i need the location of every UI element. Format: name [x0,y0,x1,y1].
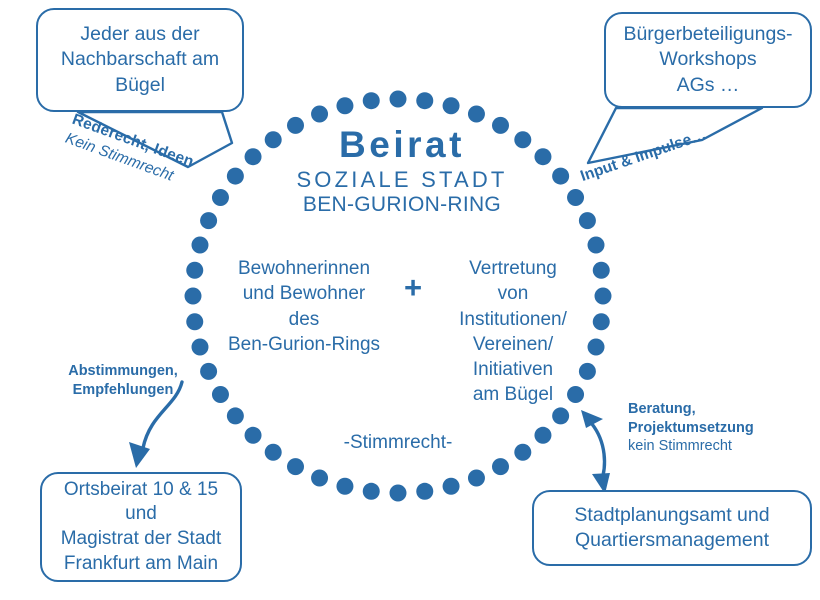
ring-dot [579,212,596,229]
ring-dot [363,483,380,500]
ring-dot [186,313,203,330]
membership-columns: Bewohnerinnenund BewohnerdesBen-Gurion-R… [206,256,602,408]
ring-dot [492,458,509,475]
ring-dot [287,458,304,475]
ring-dot [468,470,485,487]
ring-dot [212,189,229,206]
ring-dot [363,92,380,109]
ring-dot [191,237,208,254]
diagram-subtitle-location: BEN-GURION-RING [228,193,576,217]
ring-dot [311,106,328,123]
members-residents: Bewohnerinnenund BewohnerdesBen-Gurion-R… [215,256,393,357]
ring-dot [534,427,551,444]
ring-dot [245,427,262,444]
ring-dot [390,91,407,108]
members-institutions: VertretungvonInstitutionen/Vereinen/Init… [433,256,593,408]
label-abstimmungen: Abstimmungen,Empfehlungen [48,362,198,399]
ring-dot [336,478,353,495]
ring-dot [552,407,569,424]
plus-icon: + [393,256,433,303]
ring-dot [468,106,485,123]
bubble-participation-text: Bürgerbeteiligungs-WorkshopsAGs … [606,22,810,98]
ring-dot [200,212,217,229]
ring-dot [588,237,605,254]
label-beratung-regular: kein Stimmrecht [628,437,800,456]
label-beratung: Beratung,Projektumsetzung kein Stimmrech… [628,400,800,456]
label-beratung-bold: Beratung,Projektumsetzung [628,400,800,437]
diagram-canvas: Jeder aus derNachbarschaft amBügel Bürge… [0,0,820,600]
diagram-subtitle-program: SOZIALE STADT [228,168,576,193]
ring-dot [443,97,460,114]
bubble-neighbourhood-text: Jeder aus derNachbarschaft amBügel [38,22,242,98]
bubble-ortsbeirat-text: Ortsbeirat 10 & 15undMagistrat der Stadt… [42,478,240,577]
voting-right-note: -Stimmrecht- [268,432,528,454]
ring-dot [227,407,244,424]
bubble-participation[interactable]: Bürgerbeteiligungs-WorkshopsAGs … [604,12,812,108]
ring-dot [311,470,328,487]
bubble-stadtplanung[interactable]: Stadtplanungsamt undQuartiersmanagement [532,490,812,566]
center-heading-block: Beirat SOZIALE STADT BEN-GURION-RING [228,126,576,217]
bubble-stadtplanung-text: Stadtplanungsamt undQuartiersmanagement [534,503,810,554]
ring-dot [186,262,203,279]
diagram-title: Beirat [228,126,576,163]
ring-dot [185,288,202,305]
ring-dot [336,97,353,114]
bubble-neighbourhood[interactable]: Jeder aus derNachbarschaft amBügel [36,8,244,112]
ring-dot [416,92,433,109]
ring-dot [443,478,460,495]
ring-dot [390,485,407,502]
bubble-ortsbeirat[interactable]: Ortsbeirat 10 & 15undMagistrat der Stadt… [40,472,242,582]
ring-dot [416,483,433,500]
